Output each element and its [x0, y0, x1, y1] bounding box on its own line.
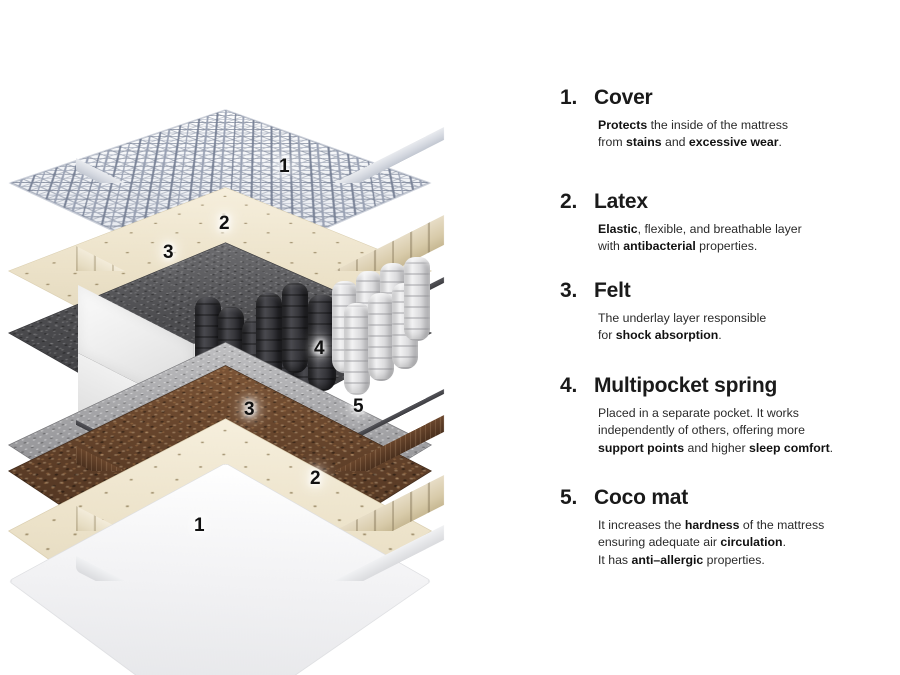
- legend-item-multipocket-spring: 4. Multipocket spring Placed in a separa…: [560, 374, 900, 457]
- legend-number: 5.: [560, 486, 594, 510]
- callout-2-latex-top: 2: [219, 214, 230, 233]
- legend-title: Coco mat: [594, 486, 688, 510]
- legend-item-latex: 2. Latex Elastic, flexible, and breathab…: [560, 190, 900, 256]
- legend-number: 4.: [560, 374, 594, 398]
- legend-description: It increases the hardness of the mattres…: [598, 517, 900, 569]
- legend-number: 1.: [560, 86, 594, 110]
- legend-item-coco-mat: 5. Coco mat It increases the hardness of…: [560, 486, 900, 569]
- legend-item-cover: 1. Cover Protects the inside of the matt…: [560, 86, 900, 152]
- base-cover-layer: [60, 483, 400, 675]
- callout-1-cover-top: 1: [279, 157, 290, 176]
- legend-description: Elastic, flexible, and breathable layerw…: [598, 221, 900, 256]
- legend-title: Latex: [594, 190, 648, 214]
- spring-coil: [404, 257, 430, 341]
- callout-3-felt-top: 3: [163, 243, 174, 262]
- legend-title: Cover: [594, 86, 653, 110]
- legend-item-felt: 3. Felt The underlay layer responsiblefo…: [560, 279, 900, 345]
- diagram-stage: [60, 85, 480, 595]
- callout-3-felt-bottom: 3: [244, 400, 255, 419]
- infographic-page: 1 2 3 4 3 5 2 1 1. Cover Protects the in…: [0, 0, 900, 675]
- legend-head: 1. Cover: [560, 86, 900, 110]
- callout-2-latex-bottom: 2: [310, 469, 321, 488]
- legend-number: 2.: [560, 190, 594, 214]
- callout-5-coco: 5: [353, 397, 364, 416]
- legend-head: 3. Felt: [560, 279, 900, 303]
- legend-title: Multipocket spring: [594, 374, 777, 398]
- callout-4-spring: 4: [314, 339, 325, 358]
- legend-title: Felt: [594, 279, 631, 303]
- legend-list: 1. Cover Protects the inside of the matt…: [560, 0, 900, 675]
- legend-head: 4. Multipocket spring: [560, 374, 900, 398]
- legend-description: The underlay layer responsiblefor shock …: [598, 310, 900, 345]
- legend-head: 5. Coco mat: [560, 486, 900, 510]
- exploded-mattress-diagram: 1 2 3 4 3 5 2 1: [0, 0, 520, 675]
- callout-1-cover-bottom: 1: [194, 516, 205, 535]
- legend-description: Placed in a separate pocket. It worksind…: [598, 405, 900, 457]
- legend-head: 2. Latex: [560, 190, 900, 214]
- legend-description: Protects the inside of the mattressfrom …: [598, 117, 900, 152]
- legend-number: 3.: [560, 279, 594, 303]
